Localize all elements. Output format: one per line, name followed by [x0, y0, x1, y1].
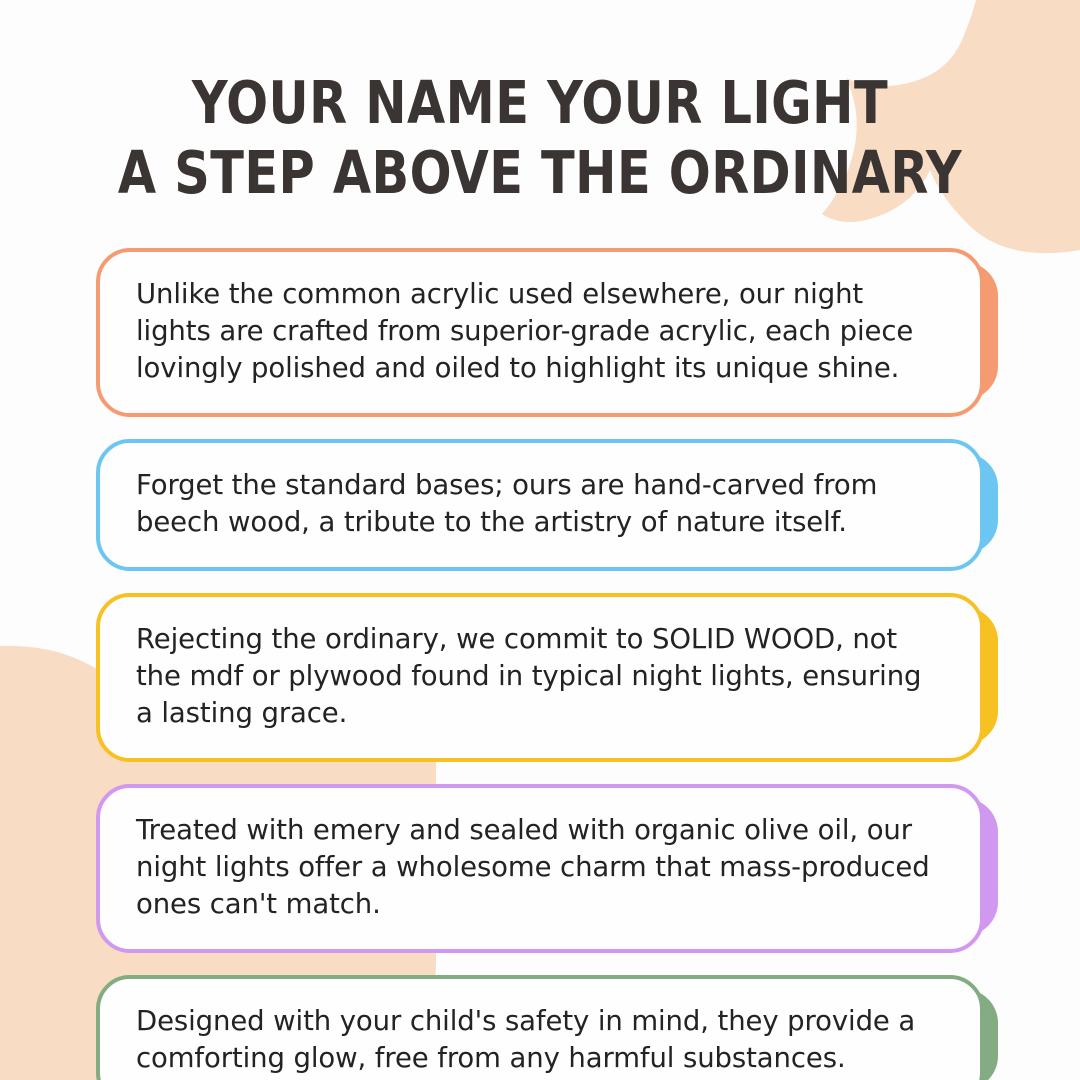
card-text: Treated with emery and sealed with organ…: [136, 812, 946, 923]
headline-line-2: A STEP ABOVE THE ORDINARY: [38, 138, 1042, 208]
card-body: Rejecting the ordinary, we commit to SOL…: [96, 593, 984, 762]
card-text: Unlike the common acrylic used elsewhere…: [136, 276, 946, 387]
card-text: Rejecting the ordinary, we commit to SOL…: [136, 621, 946, 732]
page-title: YOUR NAME YOUR LIGHT A STEP ABOVE THE OR…: [0, 68, 1080, 208]
feature-card-acrylic: Unlike the common acrylic used elsewhere…: [96, 248, 984, 417]
card-body: Treated with emery and sealed with organ…: [96, 784, 984, 953]
feature-card-list: Unlike the common acrylic used elsewhere…: [0, 248, 1080, 1080]
card-body: Designed with your child's safety in min…: [96, 975, 984, 1080]
headline-line-1: YOUR NAME YOUR LIGHT: [38, 68, 1042, 138]
card-text: Designed with your child's safety in min…: [136, 1003, 946, 1077]
feature-card-olive-oil: Treated with emery and sealed with organ…: [96, 784, 984, 953]
feature-card-solid-wood: Rejecting the ordinary, we commit to SOL…: [96, 593, 984, 762]
card-body: Unlike the common acrylic used elsewhere…: [96, 248, 984, 417]
card-text: Forget the standard bases; ours are hand…: [136, 467, 946, 541]
card-body: Forget the standard bases; ours are hand…: [96, 439, 984, 571]
feature-card-child-safety: Designed with your child's safety in min…: [96, 975, 984, 1080]
poster-canvas: YOUR NAME YOUR LIGHT A STEP ABOVE THE OR…: [0, 0, 1080, 1080]
feature-card-beech-wood: Forget the standard bases; ours are hand…: [96, 439, 984, 571]
